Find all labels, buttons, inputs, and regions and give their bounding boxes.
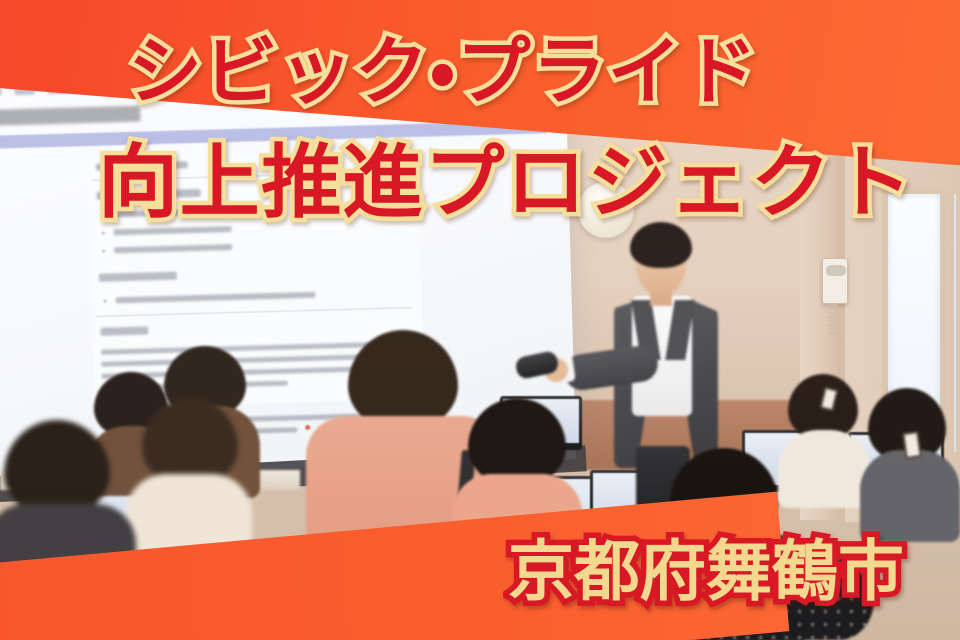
wall-phone-icon	[822, 258, 848, 304]
classroom-photo	[0, 0, 960, 640]
poster-canvas: シビック・プライド 向上推進プロジェクト 京都府舞鶴市	[0, 0, 960, 640]
chair-left	[60, 566, 260, 640]
chair-right	[624, 540, 874, 640]
phone-cord	[828, 304, 838, 334]
hair-clip-icon-2	[902, 431, 921, 459]
window-transom	[880, 96, 960, 158]
student-right-of-hoodie	[452, 398, 582, 548]
browser-toolbar	[0, 73, 536, 99]
document-ruler	[0, 120, 547, 150]
student-mid-left	[126, 398, 252, 578]
student-right-1	[778, 374, 870, 504]
student-right-2	[860, 388, 960, 538]
document-heading	[0, 106, 141, 128]
